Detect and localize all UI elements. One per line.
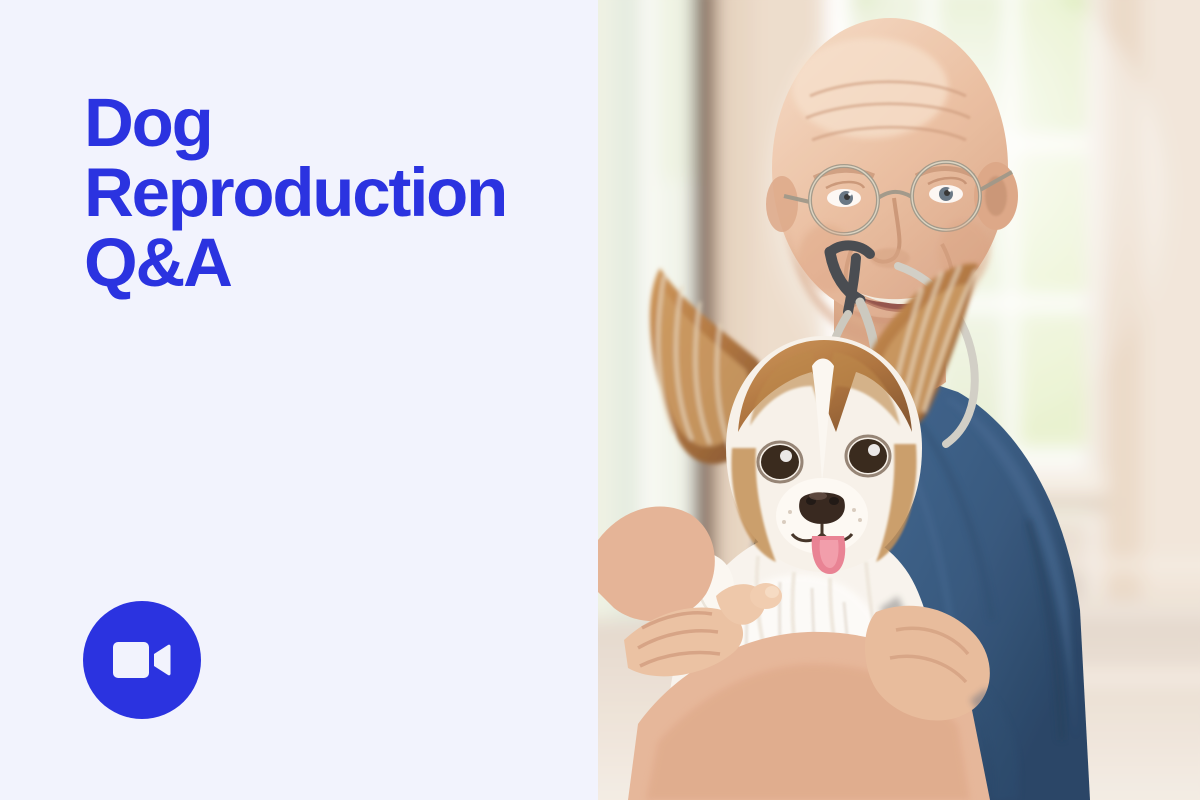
slide-canvas: Dog Reproduction Q&A bbox=[0, 0, 1200, 800]
left-text-panel: Dog Reproduction Q&A bbox=[0, 0, 598, 800]
vet-photo bbox=[598, 0, 1200, 800]
page-title: Dog Reproduction Q&A bbox=[84, 88, 584, 298]
video-camera-icon bbox=[113, 640, 171, 680]
video-badge[interactable] bbox=[83, 601, 201, 719]
